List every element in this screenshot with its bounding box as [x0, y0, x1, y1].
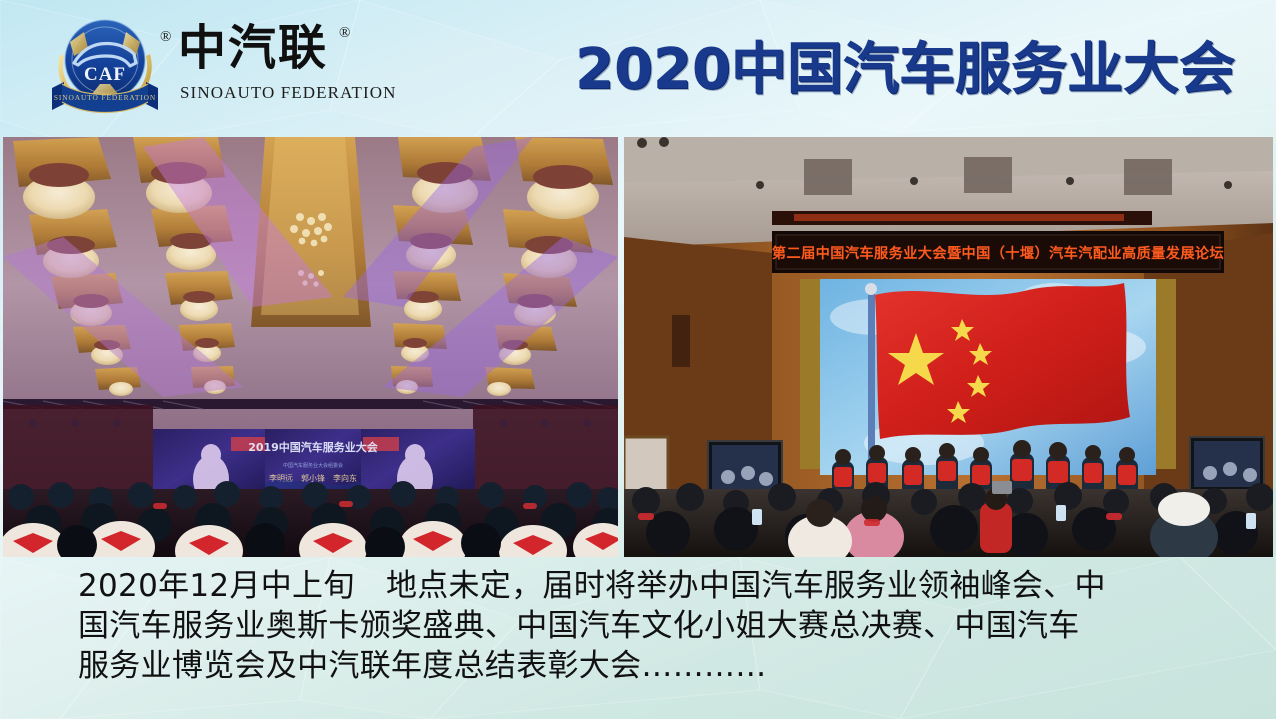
brand-name-chinese: 中汽联 — [178, 24, 328, 72]
caption-line-2: 国汽车服务业奥斯卡颁奖盛典、中国汽车文化小姐大赛总决赛、中国汽车 — [78, 606, 1228, 646]
svg-text:第二届中国汽车服务业大会暨中国（十堰）汽车汽配业高质量发展论: 第二届中国汽车服务业大会暨中国（十堰）汽车汽配业高质量发展论坛 — [772, 245, 1224, 262]
registered-mark-brand: ® — [339, 26, 350, 41]
poster-header: CAF SINOAUTO FEDERATION ® 中汽联 ® SINOAUTO… — [0, 0, 1276, 132]
brand-name-english: SINOAUTO FEDERATION — [180, 84, 397, 101]
caption-line-1: 2020年12月中上旬 地点未定，届时将举办中国汽车服务业领袖峰会、中 — [78, 566, 1228, 606]
svg-text:CAF: CAF — [84, 64, 126, 85]
event-caption: 2020年12月中上旬 地点未定，届时将举办中国汽车服务业领袖峰会、中 国汽车服… — [78, 566, 1228, 686]
svg-text:2019中国汽车服务业大会: 2019中国汽车服务业大会 — [248, 440, 379, 454]
page-title: 2020中国汽车服务业大会 — [575, 36, 1235, 103]
banquet-hall-conference-photo: 2019中国汽车服务业大会 中国汽车服务业大会组委会 李明远 郭小锋 李向东 中… — [3, 137, 618, 557]
svg-text:SINOAUTO FEDERATION: SINOAUTO FEDERATION — [54, 93, 156, 102]
caf-shield-logo-icon: CAF SINOAUTO FEDERATION — [44, 8, 166, 124]
svg-text:中国汽车服务业大会组委会: 中国汽车服务业大会组委会 — [283, 462, 343, 469]
auditorium-flag-ceremony-photo: 第二届中国汽车服务业大会暨中国（十堰）汽车汽配业高质量发展论坛 — [624, 137, 1273, 557]
caption-line-3: 服务业博览会及中汽联年度总结表彰大会………… — [78, 646, 1228, 686]
photo-strip: 2019中国汽车服务业大会 中国汽车服务业大会组委会 李明远 郭小锋 李向东 中… — [3, 137, 1273, 557]
event-poster: CAF SINOAUTO FEDERATION ® 中汽联 ® SINOAUTO… — [0, 0, 1276, 719]
registered-mark-logo: ® — [160, 30, 171, 45]
